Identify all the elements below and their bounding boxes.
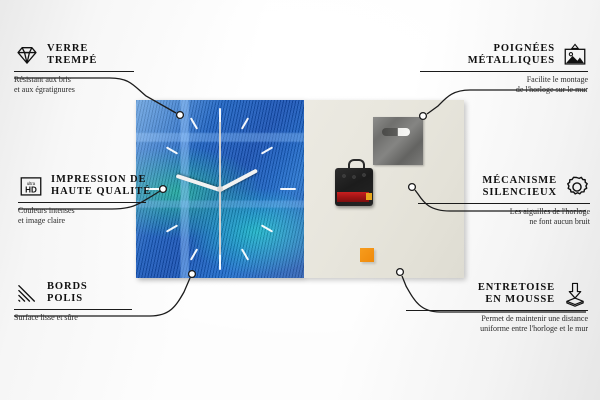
feature-desc-line2: de l'horloge sur le mur: [388, 85, 588, 95]
ultra-hd-icon: ultra HD: [18, 173, 44, 199]
gear-icon: [564, 174, 590, 200]
clock-tick: [219, 254, 221, 270]
foam-spacer-arrow-icon: [562, 281, 588, 307]
feature-desc-line1: Facilite le montage: [388, 75, 588, 85]
feature-desc-line2: ne font aucun bruit: [390, 217, 590, 227]
feature-desc-line1: Permet de maintenir une distance: [378, 314, 588, 324]
feature-divider: [406, 310, 588, 311]
feature-title-line2: HAUTE QUALITÉ: [51, 186, 151, 198]
feature-title-line2: EN MOUSSE: [478, 294, 555, 306]
feature-desc-line1: Résistant aux bris: [14, 75, 164, 85]
svg-text:HD: HD: [25, 186, 37, 195]
feature-divider: [14, 309, 132, 310]
clock-center-pin: [217, 186, 223, 192]
battery: [337, 192, 369, 202]
metal-handle-plate: [373, 117, 423, 165]
feature-bords-polis: BORDS POLIS Surface lisse et sûre: [14, 280, 164, 323]
feature-divider: [418, 203, 590, 204]
feature-verre-trempe: VERRE TREMPÉ Résistant aux bris et aux é…: [14, 42, 164, 95]
feature-desc-line1: Les aiguilles de l'horloge: [390, 207, 590, 217]
diamond-icon: [14, 42, 40, 68]
feature-title-line1: MÉCANISME: [482, 175, 557, 187]
clock-tick: [280, 188, 296, 190]
picture-frame-hanger-icon: [562, 42, 588, 68]
feature-title-line2: POLIS: [47, 293, 88, 305]
feature-desc-line2: et aux égratignures: [14, 85, 164, 95]
feature-title-line1: BORDS: [47, 281, 88, 293]
feature-divider: [420, 71, 588, 72]
feature-poignees-metalliques: POIGNÉES MÉTALLIQUES Facilite le montage…: [388, 42, 588, 95]
feature-divider: [14, 71, 134, 72]
polished-edge-icon: [14, 280, 40, 306]
feature-title-line2: SILENCIEUX: [482, 187, 557, 199]
feature-desc-line2: et image claire: [18, 216, 178, 226]
feature-divider: [18, 202, 146, 203]
feature-title-line2: TREMPÉ: [47, 55, 97, 67]
feature-desc-line1: Surface lisse et sûre: [14, 313, 164, 323]
feature-title-line1: ENTRETOISE: [478, 282, 555, 294]
feature-impression-haute-qualite: ultra HD IMPRESSION DE HAUTE QUALITÉ Cou…: [18, 173, 178, 226]
feature-title-line1: VERRE: [47, 43, 97, 55]
feature-mecanisme-silencieux: MÉCANISME SILENCIEUX Les aiguilles de l'…: [390, 174, 590, 227]
infographic-canvas: VERRE TREMPÉ Résistant aux bris et aux é…: [0, 0, 600, 400]
feature-title-line1: POIGNÉES: [468, 43, 555, 55]
foam-spacer: [360, 248, 374, 262]
feature-title-line1: IMPRESSION DE: [51, 174, 151, 186]
feature-entretoise-en-mousse: ENTRETOISE EN MOUSSE Permet de maintenir…: [378, 281, 588, 334]
feature-desc-line2: uniforme entre l'horloge et le mur: [378, 324, 588, 334]
mechanism-detail: [340, 172, 368, 188]
feature-desc-line1: Couleurs intenses: [18, 206, 178, 216]
feature-title-line2: MÉTALLIQUES: [468, 55, 555, 67]
